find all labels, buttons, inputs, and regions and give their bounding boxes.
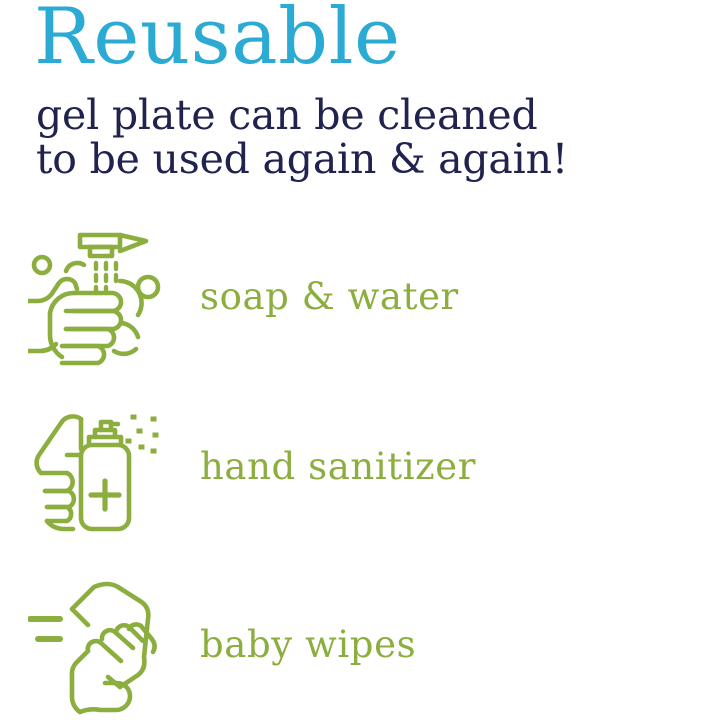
method-label-hand-sanitizer: hand sanitizer: [200, 446, 476, 488]
method-label-baby-wipes: baby wipes: [200, 624, 416, 666]
subtitle-line-1: gel plate can be cleaned: [36, 92, 538, 138]
page-title: Reusable: [34, 0, 401, 80]
icon-cell-baby-wipes: [0, 570, 200, 720]
icon-cell-hand-sanitizer: [0, 392, 200, 542]
method-row-soap-water: soap & water: [0, 222, 720, 372]
hands-washing-soap-dispenser-icon: [28, 227, 188, 367]
hand-sanitizer-pump-bottle-icon: [33, 397, 183, 537]
method-row-hand-sanitizer: hand sanitizer: [0, 392, 720, 542]
poster-canvas: Reusable gel plate can be cleaned to be …: [0, 0, 720, 720]
method-label-soap-water: soap & water: [200, 276, 459, 318]
subtitle-line-2: to be used again & again!: [36, 136, 568, 182]
hand-wiping-cloth-icon: [28, 575, 188, 715]
icon-cell-soap-water: [0, 222, 200, 372]
method-row-baby-wipes: baby wipes: [0, 570, 720, 720]
